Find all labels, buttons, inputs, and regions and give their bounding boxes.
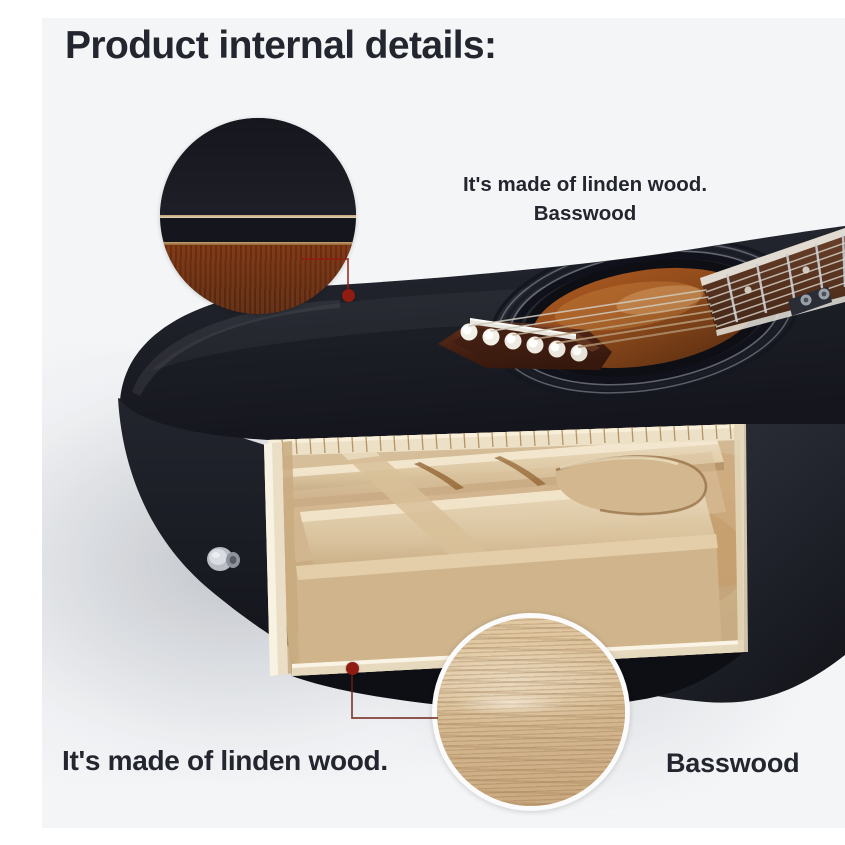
top-cross-section-marker[interactable] <box>342 289 355 302</box>
cross-section-detail-circle[interactable] <box>160 118 356 314</box>
bottom-bracing-marker[interactable] <box>346 662 359 675</box>
top-callout-line1: It's made of linden wood. <box>430 170 740 199</box>
top-callout-line2: Basswood <box>430 199 740 228</box>
bottom-callout-line1: It's made of linden wood. <box>62 745 388 777</box>
bottom-callout-line2: Basswood <box>666 748 799 779</box>
cross-section-brown-layer <box>160 245 356 314</box>
page-title: Product internal details: <box>65 24 496 68</box>
basswood-grain-detail-circle[interactable] <box>432 613 630 811</box>
guitar-cutaway-edge-left <box>264 441 298 676</box>
top-callout-text: It's made of linden wood. Basswood <box>430 170 740 228</box>
product-detail-image: Product internal details: It's made of l… <box>0 0 845 845</box>
guitar-illustration <box>0 0 845 845</box>
basswood-grain-highlight <box>452 693 569 714</box>
cross-section-wood-layer <box>160 216 356 245</box>
cross-section-black-layer <box>160 118 356 216</box>
